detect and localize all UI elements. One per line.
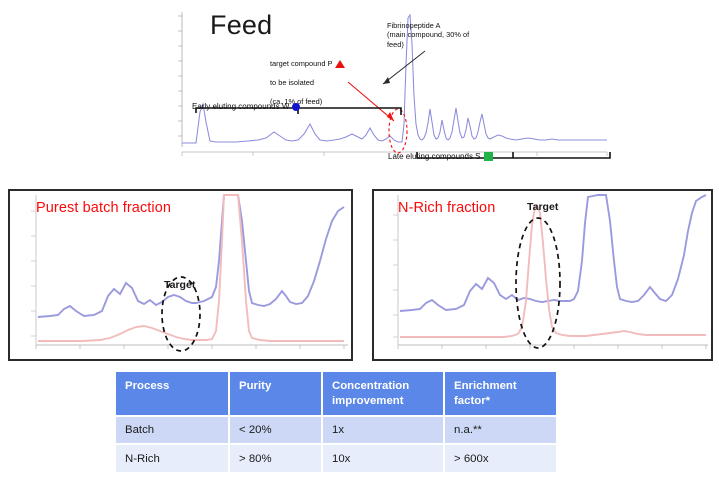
annotation-early-label: Early eluting compounds W	[192, 102, 289, 111]
n-rich-fraction-panel: N-Rich fraction Target	[372, 189, 713, 361]
annotation-target-line1: target compound P	[270, 59, 332, 68]
table-header-process: Process	[116, 372, 229, 416]
annotation-target-line2: to be isolated	[270, 78, 314, 87]
batch-y-ticks	[31, 211, 36, 336]
annotation-late-eluting: Late eluting compounds S	[388, 152, 493, 162]
batch-target-label: Target	[164, 279, 195, 291]
late-square-icon	[484, 152, 493, 161]
cell-concentration: 10x	[322, 444, 444, 472]
batch-x-ticks	[36, 345, 344, 349]
target-arrow-line	[348, 82, 394, 121]
cell-enrichment: n.a.**	[444, 416, 556, 444]
fibrinopeptide-arrow-line	[383, 51, 425, 84]
cell-enrichment: > 600x	[444, 444, 556, 472]
fibrinopeptide-arrow-head	[383, 77, 390, 84]
target-ellipse-marker	[389, 109, 407, 153]
cell-purity: < 20%	[229, 416, 322, 444]
table-header-enrichment-factor: Enrichment factor*	[444, 372, 556, 416]
cell-concentration: 1x	[322, 416, 444, 444]
annotation-early-eluting: Early eluting compounds W	[192, 102, 300, 112]
early-circle-icon	[292, 103, 300, 111]
nrich-y-ticks	[393, 215, 398, 337]
cell-process: Batch	[116, 416, 229, 444]
n-rich-fraction-title: N-Rich fraction	[398, 200, 495, 216]
results-table: Process Purity Concentration improvement…	[116, 372, 556, 472]
nrich-red-trace	[400, 205, 706, 337]
feed-chart-title: Feed	[210, 12, 272, 39]
batch-red-trace	[38, 195, 344, 341]
feed-chart-panel: Feed Fibrinopeptide A (main compound, 30…	[170, 4, 620, 164]
nrich-target-ellipse	[516, 218, 560, 348]
table-header-purity: Purity	[229, 372, 322, 416]
target-triangle-icon	[335, 60, 345, 68]
purest-batch-fraction-title: Purest batch fraction	[36, 200, 171, 216]
annotation-target-compound: target compound P to be isolated (ca. 1%…	[270, 59, 345, 106]
annotation-fibrinopeptide: Fibrinopeptide A (main compound, 30% of …	[387, 21, 469, 49]
nrich-target-label: Target	[527, 201, 558, 213]
table-header-concentration-improvement: Concentration improvement	[322, 372, 444, 416]
purest-batch-fraction-panel: Purest batch fraction Target	[8, 189, 353, 361]
n-rich-chromatogram-svg	[374, 191, 711, 359]
nrich-x-ticks	[398, 345, 706, 349]
table-header-row: Process Purity Concentration improvement…	[116, 372, 556, 416]
feed-y-ticks	[178, 16, 182, 136]
annotation-late-label: Late eluting compounds S	[388, 152, 481, 161]
purest-batch-chromatogram-svg	[10, 191, 351, 359]
table-row: Batch < 20% 1x n.a.**	[116, 416, 556, 444]
cell-purity: > 80%	[229, 444, 322, 472]
cell-process: N-Rich	[116, 444, 229, 472]
table-row: N-Rich > 80% 10x > 600x	[116, 444, 556, 472]
